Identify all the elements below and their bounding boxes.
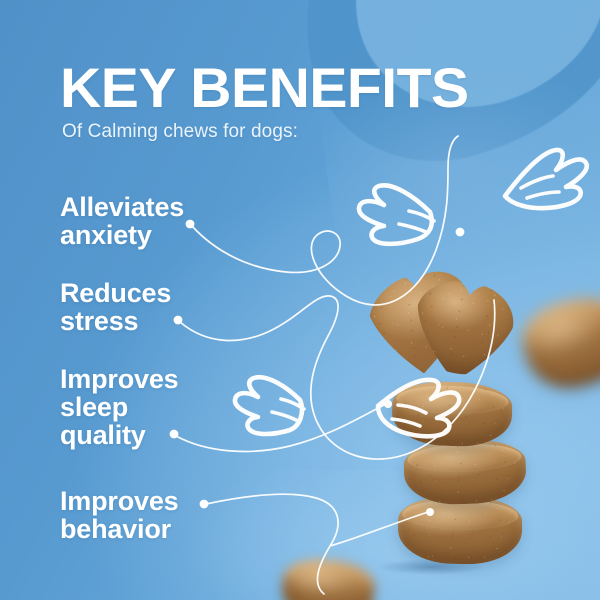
wing-pair-upper-icon	[359, 150, 587, 244]
chew-stack-third	[403, 438, 527, 506]
benefit-item-reduces-stress: Reduces stress	[60, 279, 171, 335]
benefit-item-improves-behavior: Improves behavior	[60, 487, 178, 543]
benefit-item-improves-sleep: Improves sleep quality	[60, 365, 178, 449]
benefit-item-alleviates-anxiety: Alleviates anxiety	[60, 193, 184, 249]
chew-blurred-right	[515, 289, 600, 398]
connector-anchor-0	[456, 228, 465, 237]
benefits-list: Alleviates anxiety Reduces stress Improv…	[0, 0, 300, 600]
chew-flying-upper	[407, 274, 519, 382]
benefits-poster: KEY BENEFITS Of Calming chews for dogs:	[0, 0, 600, 600]
